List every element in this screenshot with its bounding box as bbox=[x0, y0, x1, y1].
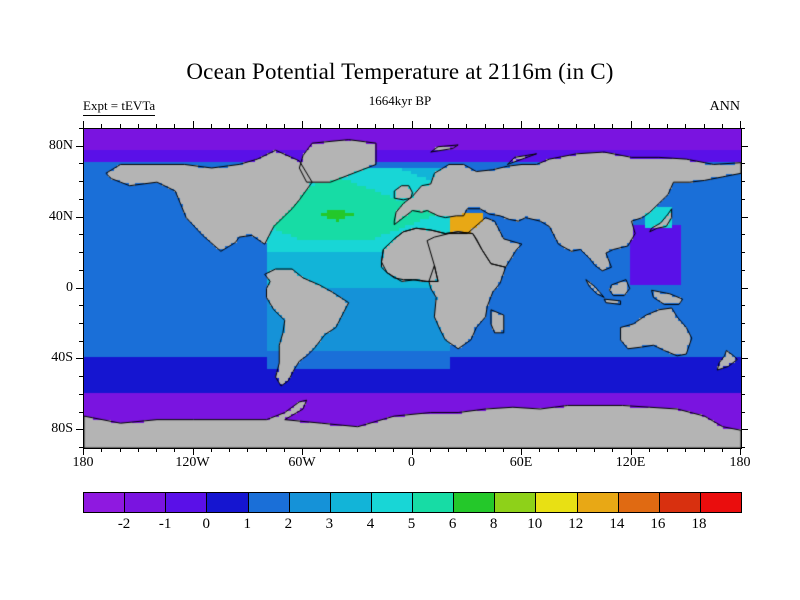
y-axis-tick bbox=[741, 163, 745, 164]
y-axis-tick bbox=[741, 270, 745, 271]
y-axis-tick bbox=[741, 429, 748, 430]
x-axis-tick bbox=[174, 448, 175, 452]
x-axis-tick bbox=[631, 448, 632, 455]
colorbar-cell bbox=[290, 493, 331, 512]
x-axis-tick bbox=[631, 121, 632, 128]
y-axis-tick bbox=[741, 146, 748, 147]
x-axis-tick bbox=[430, 124, 431, 128]
x-axis-tick bbox=[412, 121, 413, 128]
x-axis-tick bbox=[138, 124, 139, 128]
x-axis-tick bbox=[704, 448, 705, 452]
y-axis-tick bbox=[741, 412, 745, 413]
colorbar-tick-label: 10 bbox=[527, 515, 542, 533]
y-axis-tick bbox=[79, 447, 83, 448]
x-axis-tick bbox=[649, 448, 650, 452]
x-axis-tick bbox=[722, 124, 723, 128]
x-axis-tick bbox=[503, 124, 504, 128]
x-axis-tick bbox=[284, 124, 285, 128]
x-axis-tick bbox=[320, 448, 321, 452]
x-axis-tick bbox=[740, 448, 741, 455]
y-axis-tick bbox=[76, 429, 83, 430]
colorbar-cell bbox=[372, 493, 413, 512]
x-axis-tick bbox=[667, 124, 668, 128]
x-axis-tick bbox=[521, 448, 522, 455]
x-axis-tick bbox=[211, 124, 212, 128]
x-axis-tick bbox=[302, 448, 303, 455]
y-axis-tick bbox=[79, 412, 83, 413]
colorbar bbox=[83, 492, 742, 513]
y-axis-tick bbox=[741, 234, 745, 235]
colorbar-cell bbox=[660, 493, 701, 512]
x-axis-tick bbox=[539, 448, 540, 452]
x-axis-tick bbox=[174, 124, 175, 128]
y-axis-tick bbox=[79, 252, 83, 253]
x-axis-tick bbox=[339, 124, 340, 128]
x-axis-tick bbox=[193, 448, 194, 455]
y-axis-tick bbox=[741, 128, 745, 129]
colorbar-cell bbox=[125, 493, 166, 512]
climate-map-figure: Ocean Potential Temperature at 2116m (in… bbox=[0, 0, 800, 600]
y-axis-label: 0 bbox=[21, 280, 73, 296]
colorbar-tick-label: 0 bbox=[202, 515, 210, 533]
colorbar-cell bbox=[454, 493, 495, 512]
x-axis-tick bbox=[485, 448, 486, 452]
y-axis-tick bbox=[79, 234, 83, 235]
colorbar-tick-label: -1 bbox=[159, 515, 172, 533]
colorbar-tick-label: 16 bbox=[650, 515, 665, 533]
x-axis-tick bbox=[266, 448, 267, 452]
y-axis-label: 80S bbox=[21, 421, 73, 437]
y-axis-tick bbox=[76, 288, 83, 289]
x-axis-tick bbox=[266, 124, 267, 128]
colorbar-tick-label: 8 bbox=[490, 515, 498, 533]
x-axis-tick bbox=[393, 448, 394, 452]
colorbar-tick-label: -2 bbox=[118, 515, 131, 533]
colorbar-tick-label: 18 bbox=[691, 515, 706, 533]
period-label: 1664kyr BP bbox=[0, 93, 800, 109]
x-axis-tick bbox=[667, 448, 668, 452]
x-axis-tick bbox=[685, 124, 686, 128]
x-axis-tick bbox=[594, 124, 595, 128]
colorbar-cell bbox=[84, 493, 125, 512]
x-axis-tick bbox=[211, 448, 212, 452]
x-axis-tick bbox=[229, 124, 230, 128]
x-axis-tick bbox=[357, 124, 358, 128]
colorbar-cell bbox=[578, 493, 619, 512]
colorbar-cell bbox=[495, 493, 536, 512]
y-axis-tick bbox=[741, 447, 745, 448]
y-axis-tick bbox=[79, 128, 83, 129]
colorbar-cell bbox=[536, 493, 577, 512]
colorbar-tick-label: 1 bbox=[244, 515, 252, 533]
y-axis-tick bbox=[79, 341, 83, 342]
colorbar-cell bbox=[413, 493, 454, 512]
x-axis-tick bbox=[612, 124, 613, 128]
y-axis-tick bbox=[741, 394, 745, 395]
x-axis-tick bbox=[722, 448, 723, 452]
x-axis-label: 180 bbox=[730, 455, 751, 471]
colorbar-cell bbox=[249, 493, 290, 512]
x-axis-tick bbox=[612, 448, 613, 452]
x-axis-tick bbox=[101, 124, 102, 128]
y-axis-tick bbox=[76, 217, 83, 218]
x-axis-tick bbox=[649, 124, 650, 128]
x-axis-tick bbox=[576, 124, 577, 128]
x-axis-tick bbox=[466, 448, 467, 452]
y-axis-tick bbox=[76, 146, 83, 147]
colorbar-tick-label: 12 bbox=[568, 515, 583, 533]
colorbar-tick-label: 4 bbox=[367, 515, 375, 533]
x-axis-tick bbox=[448, 448, 449, 452]
colorbar-tick-label: 5 bbox=[408, 515, 416, 533]
y-axis-tick bbox=[76, 358, 83, 359]
x-axis-tick bbox=[375, 124, 376, 128]
x-axis-tick bbox=[120, 448, 121, 452]
y-axis-label: 40N bbox=[21, 209, 73, 225]
x-axis-tick bbox=[357, 448, 358, 452]
x-axis-tick bbox=[539, 124, 540, 128]
y-axis-tick bbox=[741, 288, 748, 289]
page-title: Ocean Potential Temperature at 2116m (in… bbox=[0, 58, 800, 86]
x-axis-tick bbox=[83, 121, 84, 128]
y-axis-tick bbox=[741, 217, 748, 218]
x-axis-tick bbox=[594, 448, 595, 452]
colorbar-cell bbox=[207, 493, 248, 512]
x-axis-tick bbox=[448, 124, 449, 128]
ocean-temperature-heatmap bbox=[84, 129, 741, 448]
x-axis-label: 120W bbox=[175, 455, 209, 471]
x-axis-tick bbox=[83, 448, 84, 455]
map-plot-area bbox=[83, 128, 742, 449]
x-axis-label: 180 bbox=[73, 455, 94, 471]
y-axis-tick bbox=[741, 305, 745, 306]
y-axis-tick bbox=[79, 376, 83, 377]
y-axis-tick bbox=[79, 323, 83, 324]
y-axis-tick bbox=[741, 199, 745, 200]
y-axis-tick bbox=[79, 394, 83, 395]
y-axis-tick bbox=[79, 163, 83, 164]
x-axis-tick bbox=[485, 124, 486, 128]
y-axis-tick bbox=[79, 305, 83, 306]
colorbar-tick-label: 6 bbox=[449, 515, 457, 533]
colorbar-cell bbox=[619, 493, 660, 512]
x-axis-tick bbox=[120, 124, 121, 128]
x-axis-label: 60W bbox=[288, 455, 315, 471]
x-axis-tick bbox=[503, 448, 504, 452]
colorbar-tick-label: 3 bbox=[326, 515, 334, 533]
x-axis-tick bbox=[193, 121, 194, 128]
x-axis-tick bbox=[685, 448, 686, 452]
x-axis-tick bbox=[156, 448, 157, 452]
x-axis-tick bbox=[558, 124, 559, 128]
x-axis-tick bbox=[156, 124, 157, 128]
colorbar-cell bbox=[166, 493, 207, 512]
x-axis-tick bbox=[521, 121, 522, 128]
x-axis-tick bbox=[247, 448, 248, 452]
y-axis-label: 40S bbox=[21, 350, 73, 366]
x-axis-tick bbox=[229, 448, 230, 452]
x-axis-label: 60E bbox=[510, 455, 533, 471]
x-axis-tick bbox=[302, 121, 303, 128]
y-axis-tick bbox=[79, 181, 83, 182]
x-axis-tick bbox=[704, 124, 705, 128]
y-axis-tick bbox=[741, 323, 745, 324]
y-axis-tick bbox=[741, 358, 748, 359]
colorbar-cell bbox=[701, 493, 741, 512]
y-axis-label: 80N bbox=[21, 138, 73, 154]
x-axis-tick bbox=[430, 448, 431, 452]
x-axis-tick bbox=[138, 448, 139, 452]
x-axis-tick bbox=[247, 124, 248, 128]
colorbar-cell bbox=[331, 493, 372, 512]
season-label: ANN bbox=[710, 98, 740, 115]
x-axis-label: 0 bbox=[408, 455, 415, 471]
x-axis-tick bbox=[320, 124, 321, 128]
y-axis-tick bbox=[741, 376, 745, 377]
x-axis-tick bbox=[375, 448, 376, 452]
x-axis-label: 120E bbox=[616, 455, 646, 471]
y-axis-tick bbox=[741, 181, 745, 182]
x-axis-tick bbox=[466, 124, 467, 128]
x-axis-tick bbox=[284, 448, 285, 452]
y-axis-tick bbox=[79, 199, 83, 200]
x-axis-tick bbox=[393, 124, 394, 128]
x-axis-tick bbox=[339, 448, 340, 452]
y-axis-tick bbox=[741, 341, 745, 342]
colorbar-tick-label: 2 bbox=[285, 515, 293, 533]
x-axis-tick bbox=[740, 121, 741, 128]
y-axis-tick bbox=[741, 252, 745, 253]
x-axis-tick bbox=[558, 448, 559, 452]
y-axis-tick bbox=[79, 270, 83, 271]
x-axis-tick bbox=[101, 448, 102, 452]
x-axis-tick bbox=[576, 448, 577, 452]
x-axis-tick bbox=[412, 448, 413, 455]
colorbar-tick-label: 14 bbox=[609, 515, 624, 533]
